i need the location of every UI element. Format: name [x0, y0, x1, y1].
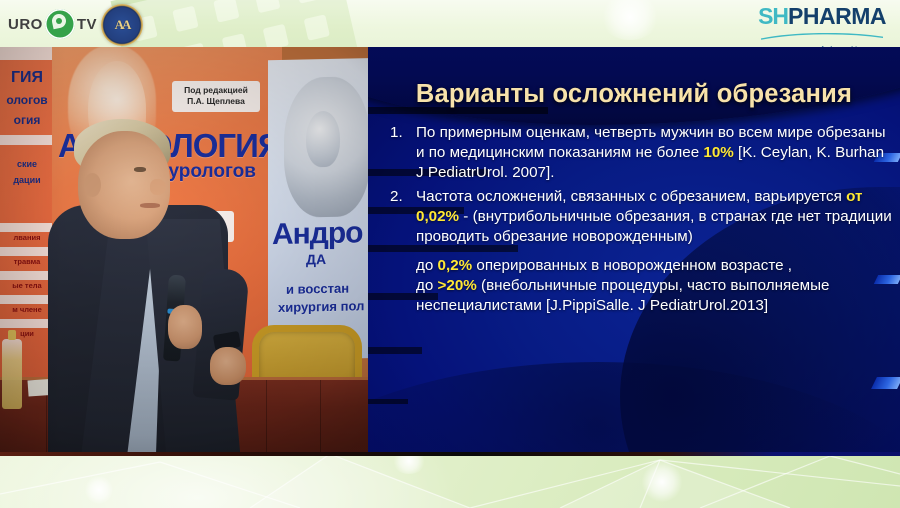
- text-run: оперированных в новорожденном возрасте ,: [472, 257, 792, 274]
- urotv-logo-post: TV: [77, 16, 97, 33]
- text-run: (внебольничные процедуры, часто выполняе…: [416, 277, 829, 314]
- poster-left-line-0: ГИЯ: [0, 69, 58, 87]
- poster-editor-box: Под редакцией П.А. Щеплева: [172, 81, 260, 112]
- speaker-mouth: [140, 203, 160, 208]
- poster-right-title: Андро: [272, 216, 362, 252]
- video-frame-bottom-edge: [0, 452, 900, 456]
- shpharma-pharma: PHARMA: [788, 3, 886, 29]
- highlight-run: 0,2%: [438, 257, 473, 274]
- list-item-number: 2.: [390, 187, 416, 246]
- speaker-ear: [84, 173, 101, 197]
- shpharma-sh: SH: [758, 3, 788, 29]
- poster-right-line3: хирургия пол: [278, 298, 364, 315]
- highlight-run: 10%: [703, 144, 733, 161]
- highlight-run: >20%: [438, 277, 477, 294]
- slide-title: Варианты осложнений обрезания: [368, 80, 900, 109]
- text-run: - (внутрибольничные обрезания, в странах…: [416, 208, 892, 245]
- urotv-logo[interactable]: URO TV: [8, 8, 97, 40]
- speaker-hand-holding-mic: [168, 305, 202, 349]
- text-run: Частота осложнений, связанных с обрезани…: [416, 188, 846, 205]
- speaker-eye: [134, 167, 146, 172]
- academy-seal-icon[interactable]: АА: [101, 4, 143, 46]
- poster-right-line1: ДА: [306, 251, 326, 267]
- screenshot-root: URO TV АА SHPHARMA source of healing ГИЯ…: [0, 0, 900, 508]
- network-lines-decoration: [0, 450, 900, 508]
- list-item-number: 1.: [390, 123, 416, 182]
- seal-monogram: АА: [115, 17, 130, 33]
- continuation-line: до >20% (внебольничные процедуры, часто …: [416, 276, 892, 316]
- water-bottle: [2, 339, 22, 409]
- poster-right-line2: и восстан: [286, 281, 349, 297]
- text-run: до: [416, 277, 438, 294]
- text-run: до: [416, 257, 438, 274]
- continuation-line: до 0,2% оперированных в новорожденном во…: [416, 256, 892, 276]
- speaker-nose: [150, 179, 166, 195]
- video-frame[interactable]: ГИЯ ологов огия ские дации лвания травма…: [0, 47, 900, 452]
- leaf-circle-icon: [45, 9, 75, 39]
- list-item: 1. По примерным оценкам, четверть мужчин…: [390, 123, 892, 182]
- poster-left-line-4: дации: [0, 175, 58, 185]
- poster-left-line-2: огия: [0, 113, 58, 127]
- presentation-slide: Варианты осложнений обрезания 1. По прим…: [368, 47, 900, 452]
- slide-body: 1. По примерным оценкам, четверть мужчин…: [390, 123, 892, 317]
- poster-left-line-1: ологов: [0, 93, 58, 107]
- urotv-logo-pre: URO: [8, 16, 43, 33]
- list-item-text: По примерным оценкам, четверть мужчин во…: [416, 123, 892, 182]
- poster-right: Андро ДА и восстан хирургия пол: [268, 58, 368, 360]
- list-item: 2. Частота осложнений, связанных с обрез…: [390, 187, 892, 246]
- speaker-photo: ГИЯ ологов огия ские дации лвания травма…: [0, 47, 368, 452]
- swoosh-icon: [761, 33, 884, 40]
- list-continuation: до 0,2% оперированных в новорожденном во…: [416, 256, 892, 316]
- list-item-text: Частота осложнений, связанных с обрезани…: [416, 187, 892, 246]
- bust-illustration-icon: [284, 76, 368, 218]
- poster-left-line-3: ские: [0, 159, 58, 169]
- speaker-hand-holding-device: [210, 347, 246, 385]
